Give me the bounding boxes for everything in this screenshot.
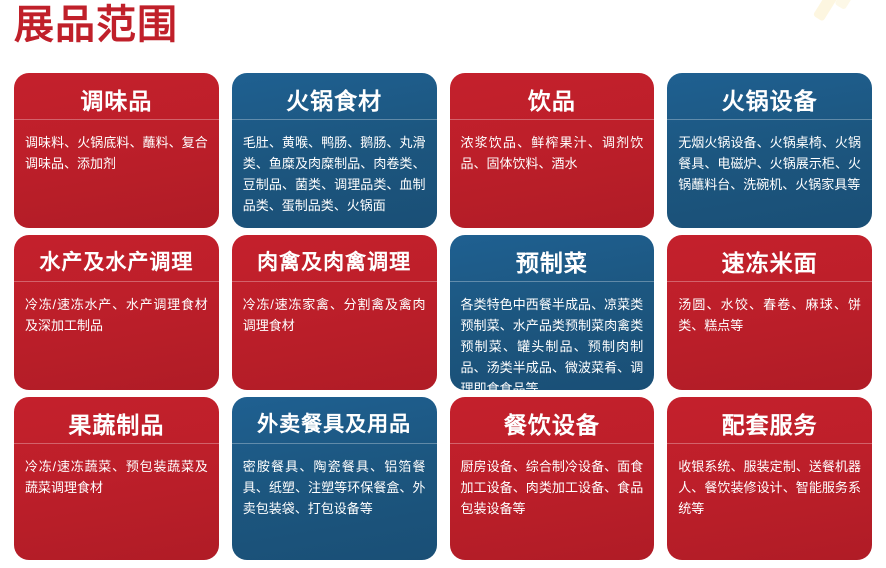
card-title: 肉禽及肉禽调理 xyxy=(232,235,437,278)
exhibit-scope-page: 展品范围 调味品 调味料、火锅底料、蘸料、复合调味品、添加剂 火锅食材 毛肚、黄… xyxy=(0,0,886,568)
card-body: 冷冻/速冻家禽、分割禽及禽肉调理食材 xyxy=(232,282,437,346)
ribbon-decoration-icon xyxy=(802,0,886,38)
card-body: 厨房设备、综合制冷设备、面食加工设备、肉类加工设备、食品包装设备等 xyxy=(450,444,655,529)
card-body: 毛肚、黄喉、鸭肠、鹅肠、丸滑类、鱼糜及肉糜制品、肉卷类、豆制品、菌类、调理品类、… xyxy=(232,120,437,226)
card-title: 火锅设备 xyxy=(667,73,872,116)
card-body: 调味料、火锅底料、蘸料、复合调味品、添加剂 xyxy=(14,120,219,184)
card-body: 密胺餐具、陶瓷餐具、铝箔餐具、纸塑、注塑等环保餐盒、外卖包装袋、打包设备等 xyxy=(232,444,437,529)
category-card-grid: 调味品 调味料、火锅底料、蘸料、复合调味品、添加剂 火锅食材 毛肚、黄喉、鸭肠、… xyxy=(14,73,872,560)
card-body: 汤圆、水饺、春卷、麻球、饼类、糕点等 xyxy=(667,282,872,346)
category-card-huoguoshebei[interactable]: 火锅设备 无烟火锅设备、火锅桌椅、火锅餐具、电磁炉、火锅展示柜、火锅蘸料台、洗碗… xyxy=(667,73,872,228)
category-card-sudongmimian[interactable]: 速冻米面 汤圆、水饺、春卷、麻球、饼类、糕点等 xyxy=(667,235,872,390)
card-body: 冷冻/速冻水产、水产调理食材及深加工制品 xyxy=(14,282,219,346)
category-card-yuzhicai[interactable]: 预制菜 各类特色中西餐半成品、凉菜类预制菜、水产品类预制菜肉禽类预制菜、罐头制品… xyxy=(450,235,655,390)
category-card-yinpin[interactable]: 饮品 浓浆饮品、鲜榨果汁、调剂饮品、固体饮料、酒水 xyxy=(450,73,655,228)
card-body: 冷冻/速冻蔬菜、预包装蔬菜及蔬菜调理食材 xyxy=(14,444,219,508)
card-title: 外卖餐具及用品 xyxy=(232,397,437,440)
card-title: 饮品 xyxy=(450,73,655,116)
category-card-rouqin[interactable]: 肉禽及肉禽调理 冷冻/速冻家禽、分割禽及禽肉调理食材 xyxy=(232,235,437,390)
card-body: 各类特色中西餐半成品、凉菜类预制菜、水产品类预制菜肉禽类预制菜、罐头制品、预制肉… xyxy=(450,282,655,390)
category-card-canyinshebei[interactable]: 餐饮设备 厨房设备、综合制冷设备、面食加工设备、肉类加工设备、食品包装设备等 xyxy=(450,397,655,560)
card-body: 收银系统、服装定制、送餐机器人、餐饮装修设计、智能服务系统等 xyxy=(667,444,872,529)
card-title: 速冻米面 xyxy=(667,235,872,278)
page-title: 展品范围 xyxy=(14,0,178,54)
card-title: 调味品 xyxy=(14,73,219,116)
category-card-waimaicanju[interactable]: 外卖餐具及用品 密胺餐具、陶瓷餐具、铝箔餐具、纸塑、注塑等环保餐盒、外卖包装袋、… xyxy=(232,397,437,560)
card-title: 餐饮设备 xyxy=(450,397,655,440)
category-card-peitaofuwu[interactable]: 配套服务 收银系统、服装定制、送餐机器人、餐饮装修设计、智能服务系统等 xyxy=(667,397,872,560)
category-card-tiaoweipin[interactable]: 调味品 调味料、火锅底料、蘸料、复合调味品、添加剂 xyxy=(14,73,219,228)
category-card-huoguoshicai[interactable]: 火锅食材 毛肚、黄喉、鸭肠、鹅肠、丸滑类、鱼糜及肉糜制品、肉卷类、豆制品、菌类、… xyxy=(232,73,437,228)
card-body: 浓浆饮品、鲜榨果汁、调剂饮品、固体饮料、酒水 xyxy=(450,120,655,184)
card-title: 火锅食材 xyxy=(232,73,437,116)
card-body: 无烟火锅设备、火锅桌椅、火锅餐具、电磁炉、火锅展示柜、火锅蘸料台、洗碗机、火锅家… xyxy=(667,120,872,205)
card-title: 水产及水产调理 xyxy=(14,235,219,278)
card-title: 配套服务 xyxy=(667,397,872,440)
card-title: 预制菜 xyxy=(450,235,655,278)
category-card-guoshuzhipin[interactable]: 果蔬制品 冷冻/速冻蔬菜、预包装蔬菜及蔬菜调理食材 xyxy=(14,397,219,560)
category-card-shuichan[interactable]: 水产及水产调理 冷冻/速冻水产、水产调理食材及深加工制品 xyxy=(14,235,219,390)
card-title: 果蔬制品 xyxy=(14,397,219,440)
